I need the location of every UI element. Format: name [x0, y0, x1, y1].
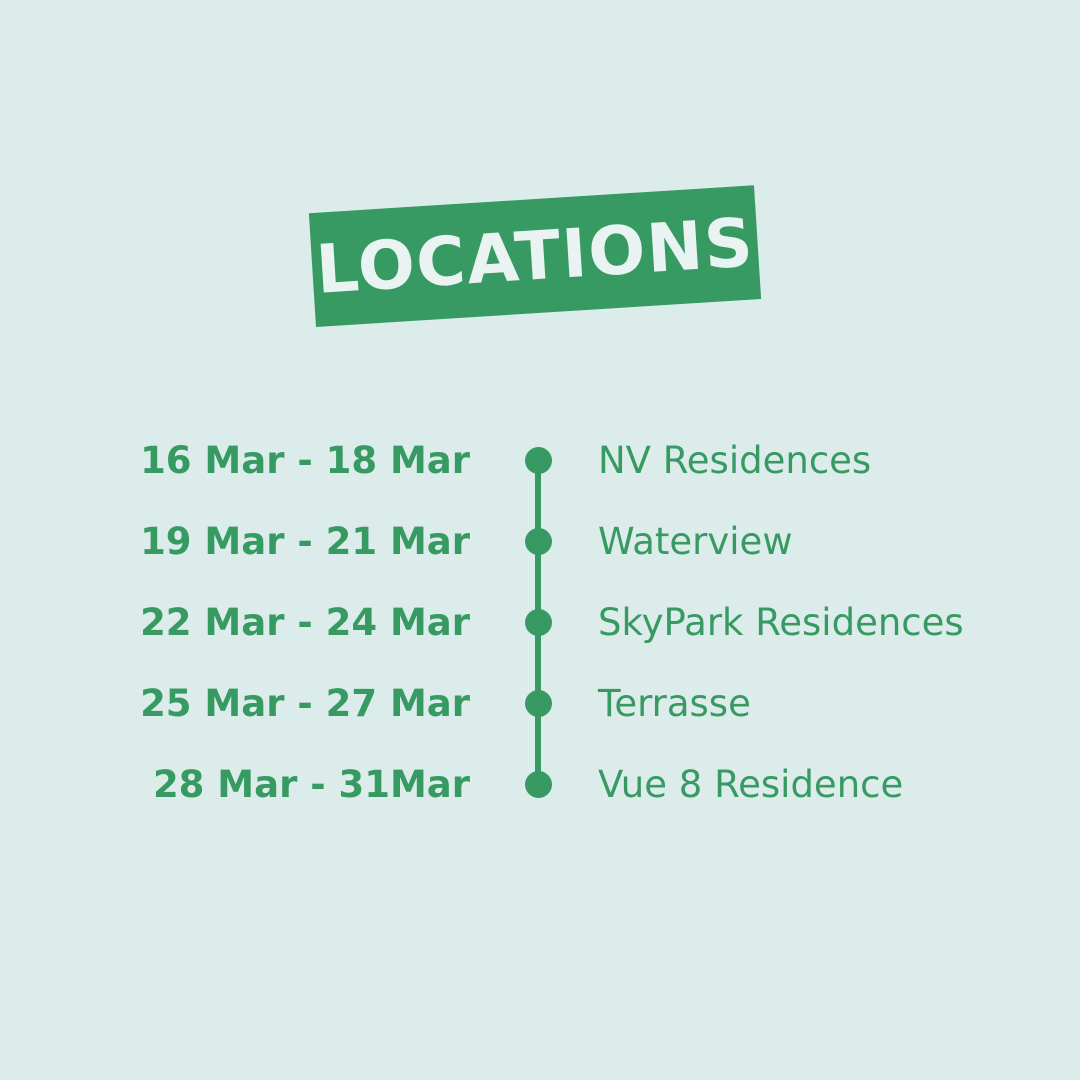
- timeline-dot-icon: [525, 609, 552, 636]
- timeline-row: 25 Mar - 27 Mar Terrasse: [0, 663, 1080, 744]
- timeline-row: 28 Mar - 31Mar Vue 8 Residence: [0, 744, 1080, 825]
- timeline-row-location: Terrasse: [598, 685, 751, 722]
- timeline-row-date: 19 Mar - 21 Mar: [0, 523, 470, 560]
- timeline-dot-icon: [525, 690, 552, 717]
- locations-timeline: 16 Mar - 18 Mar NV Residences 19 Mar - 2…: [0, 420, 1080, 825]
- timeline-row-date: 25 Mar - 27 Mar: [0, 685, 470, 722]
- timeline-row: 22 Mar - 24 Mar SkyPark Residences: [0, 582, 1080, 663]
- timeline-row-location: Vue 8 Residence: [598, 766, 903, 803]
- timeline-row-location: SkyPark Residences: [598, 604, 964, 641]
- timeline-row-date: 16 Mar - 18 Mar: [0, 442, 470, 479]
- timeline-row-date: 28 Mar - 31Mar: [0, 766, 470, 803]
- timeline-row-location: NV Residences: [598, 442, 871, 479]
- locations-poster: LOCATIONS 16 Mar - 18 Mar NV Residences …: [0, 0, 1080, 1080]
- timeline-dot-icon: [525, 528, 552, 555]
- title-banner: LOCATIONS: [309, 185, 761, 327]
- timeline-row-location: Waterview: [598, 523, 793, 560]
- timeline-dot-icon: [525, 447, 552, 474]
- timeline-dot-icon: [525, 771, 552, 798]
- timeline-row: 16 Mar - 18 Mar NV Residences: [0, 420, 1080, 501]
- timeline-row: 19 Mar - 21 Mar Waterview: [0, 501, 1080, 582]
- timeline-row-date: 22 Mar - 24 Mar: [0, 604, 470, 641]
- page-title: LOCATIONS: [314, 209, 756, 303]
